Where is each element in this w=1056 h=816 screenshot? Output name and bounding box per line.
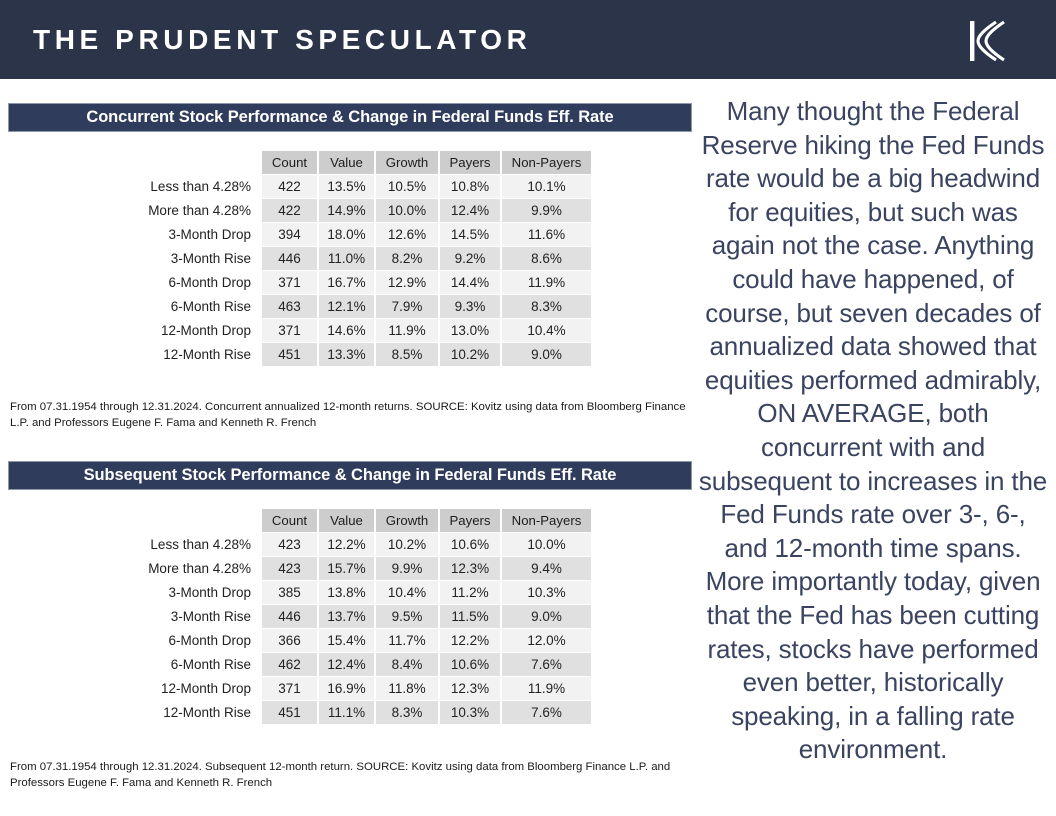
cell-growth: 12.9% (376, 271, 438, 294)
cell-value: 13.5% (319, 175, 374, 198)
column-header-count: Count (262, 151, 317, 174)
cell-growth: 9.5% (376, 605, 438, 628)
cell-non-payers: 7.6% (502, 701, 591, 724)
cell-payers: 9.2% (440, 247, 500, 270)
cell-payers: 10.2% (440, 343, 500, 366)
cell-count: 423 (262, 557, 317, 580)
table-2-footnote: From 07.31.1954 through 12.31.2024. Subs… (10, 760, 694, 791)
cell-count: 422 (262, 199, 317, 222)
kovitz-k-logo-icon (966, 20, 1010, 62)
cell-non-payers: 10.1% (502, 175, 591, 198)
cell-growth: 7.9% (376, 295, 438, 318)
column-header-growth: Growth (376, 509, 438, 532)
table-2-title: Subsequent Stock Performance & Change in… (8, 461, 692, 490)
cell-count: 422 (262, 175, 317, 198)
column-header-non-payers: Non-Payers (502, 509, 591, 532)
cell-value: 12.4% (319, 653, 374, 676)
cell-count: 463 (262, 295, 317, 318)
row-label: 12-Month Drop (126, 319, 260, 342)
cell-non-payers: 7.6% (502, 653, 591, 676)
commentary-text: Many thought the Federal Reserve hiking … (697, 95, 1049, 767)
cell-growth: 8.5% (376, 343, 438, 366)
cell-value: 15.7% (319, 557, 374, 580)
column-header-growth: Growth (376, 151, 438, 174)
cell-growth: 8.2% (376, 247, 438, 270)
subsequent-performance-table: Count Value Growth Payers Non-Payers Les… (124, 508, 593, 725)
cell-value: 14.6% (319, 319, 374, 342)
column-header-payers: Payers (440, 509, 500, 532)
cell-payers: 12.3% (440, 677, 500, 700)
cell-value: 15.4% (319, 629, 374, 652)
page-header: THE PRUDENT SPECULATOR (0, 0, 1056, 79)
cell-non-payers: 10.0% (502, 533, 591, 556)
cell-non-payers: 9.9% (502, 199, 591, 222)
cell-value: 11.0% (319, 247, 374, 270)
cell-growth: 9.9% (376, 557, 438, 580)
cell-payers: 9.3% (440, 295, 500, 318)
table-1-footnote: From 07.31.1954 through 12.31.2024. Conc… (10, 400, 694, 431)
cell-value: 13.3% (319, 343, 374, 366)
cell-payers: 11.5% (440, 605, 500, 628)
row-label: 6-Month Drop (126, 271, 260, 294)
cell-count: 451 (262, 701, 317, 724)
cell-payers: 10.3% (440, 701, 500, 724)
brand-title: THE PRUDENT SPECULATOR (33, 24, 531, 56)
cell-payers: 10.6% (440, 533, 500, 556)
row-label: 3-Month Rise (126, 247, 260, 270)
table-header-row: Count Value Growth Payers Non-Payers (126, 509, 591, 532)
cell-non-payers: 8.6% (502, 247, 591, 270)
cell-growth: 8.3% (376, 701, 438, 724)
column-header-count: Count (262, 509, 317, 532)
row-label: More than 4.28% (126, 557, 260, 580)
cell-count: 371 (262, 271, 317, 294)
cell-count: 394 (262, 223, 317, 246)
cell-payers: 12.3% (440, 557, 500, 580)
cell-non-payers: 9.0% (502, 605, 591, 628)
table-row: 12-Month Drop 371 14.6% 11.9% 13.0% 10.4… (126, 319, 591, 342)
cell-count: 371 (262, 319, 317, 342)
cell-non-payers: 8.3% (502, 295, 591, 318)
row-label: 6-Month Drop (126, 629, 260, 652)
row-label: 3-Month Drop (126, 223, 260, 246)
table-row: 12-Month Rise 451 11.1% 8.3% 10.3% 7.6% (126, 701, 591, 724)
cell-count: 423 (262, 533, 317, 556)
table-row: More than 4.28% 422 14.9% 10.0% 12.4% 9.… (126, 199, 591, 222)
cell-count: 462 (262, 653, 317, 676)
cell-payers: 12.4% (440, 199, 500, 222)
cell-count: 446 (262, 605, 317, 628)
column-header-payers: Payers (440, 151, 500, 174)
cell-count: 371 (262, 677, 317, 700)
table-row: 12-Month Drop 371 16.9% 11.8% 12.3% 11.9… (126, 677, 591, 700)
cell-non-payers: 9.4% (502, 557, 591, 580)
table-row: 3-Month Drop 394 18.0% 12.6% 14.5% 11.6% (126, 223, 591, 246)
cell-payers: 14.4% (440, 271, 500, 294)
cell-value: 16.7% (319, 271, 374, 294)
cell-growth: 8.4% (376, 653, 438, 676)
concurrent-performance-table: Count Value Growth Payers Non-Payers Les… (124, 150, 593, 367)
column-header-value: Value (319, 151, 374, 174)
table-row: Less than 4.28% 423 12.2% 10.2% 10.6% 10… (126, 533, 591, 556)
table-1-title: Concurrent Stock Performance & Change in… (8, 103, 692, 132)
table-row: 12-Month Rise 451 13.3% 8.5% 10.2% 9.0% (126, 343, 591, 366)
row-label: 3-Month Drop (126, 581, 260, 604)
cell-non-payers: 11.9% (502, 677, 591, 700)
cell-growth: 10.4% (376, 581, 438, 604)
cell-payers: 12.2% (440, 629, 500, 652)
row-label: 6-Month Rise (126, 653, 260, 676)
cell-count: 446 (262, 247, 317, 270)
cell-non-payers: 12.0% (502, 629, 591, 652)
table-row: Less than 4.28% 422 13.5% 10.5% 10.8% 10… (126, 175, 591, 198)
row-label: Less than 4.28% (126, 533, 260, 556)
table-row: 6-Month Drop 371 16.7% 12.9% 14.4% 11.9% (126, 271, 591, 294)
row-label: Less than 4.28% (126, 175, 260, 198)
cell-count: 366 (262, 629, 317, 652)
cell-count: 451 (262, 343, 317, 366)
cell-growth: 11.7% (376, 629, 438, 652)
cell-non-payers: 10.4% (502, 319, 591, 342)
cell-non-payers: 10.3% (502, 581, 591, 604)
table-row: 3-Month Rise 446 11.0% 8.2% 9.2% 8.6% (126, 247, 591, 270)
table-row: 6-Month Rise 462 12.4% 8.4% 10.6% 7.6% (126, 653, 591, 676)
cell-payers: 13.0% (440, 319, 500, 342)
cell-growth: 11.8% (376, 677, 438, 700)
cell-count: 385 (262, 581, 317, 604)
cell-non-payers: 11.9% (502, 271, 591, 294)
table-row: 6-Month Drop 366 15.4% 11.7% 12.2% 12.0% (126, 629, 591, 652)
cell-value: 12.1% (319, 295, 374, 318)
cell-value: 11.1% (319, 701, 374, 724)
row-label: 3-Month Rise (126, 605, 260, 628)
cell-growth: 10.0% (376, 199, 438, 222)
table-row: 6-Month Rise 463 12.1% 7.9% 9.3% 8.3% (126, 295, 591, 318)
row-label: 12-Month Rise (126, 701, 260, 724)
cell-payers: 11.2% (440, 581, 500, 604)
cell-value: 13.8% (319, 581, 374, 604)
cell-growth: 11.9% (376, 319, 438, 342)
cell-non-payers: 9.0% (502, 343, 591, 366)
table-row: 3-Month Drop 385 13.8% 10.4% 11.2% 10.3% (126, 581, 591, 604)
row-label: 6-Month Rise (126, 295, 260, 318)
cell-non-payers: 11.6% (502, 223, 591, 246)
cell-growth: 10.5% (376, 175, 438, 198)
cell-payers: 10.8% (440, 175, 500, 198)
row-label-header (126, 151, 260, 174)
cell-growth: 12.6% (376, 223, 438, 246)
cell-value: 13.7% (319, 605, 374, 628)
cell-payers: 14.5% (440, 223, 500, 246)
cell-value: 18.0% (319, 223, 374, 246)
cell-value: 12.2% (319, 533, 374, 556)
cell-value: 14.9% (319, 199, 374, 222)
column-header-value: Value (319, 509, 374, 532)
table-header-row: Count Value Growth Payers Non-Payers (126, 151, 591, 174)
row-label: 12-Month Rise (126, 343, 260, 366)
cell-payers: 10.6% (440, 653, 500, 676)
cell-growth: 10.2% (376, 533, 438, 556)
table-row: More than 4.28% 423 15.7% 9.9% 12.3% 9.4… (126, 557, 591, 580)
table-row: 3-Month Rise 446 13.7% 9.5% 11.5% 9.0% (126, 605, 591, 628)
tables-column: Concurrent Stock Performance & Change in… (0, 79, 700, 816)
row-label: 12-Month Drop (126, 677, 260, 700)
cell-value: 16.9% (319, 677, 374, 700)
column-header-non-payers: Non-Payers (502, 151, 591, 174)
row-label: More than 4.28% (126, 199, 260, 222)
row-label-header (126, 509, 260, 532)
